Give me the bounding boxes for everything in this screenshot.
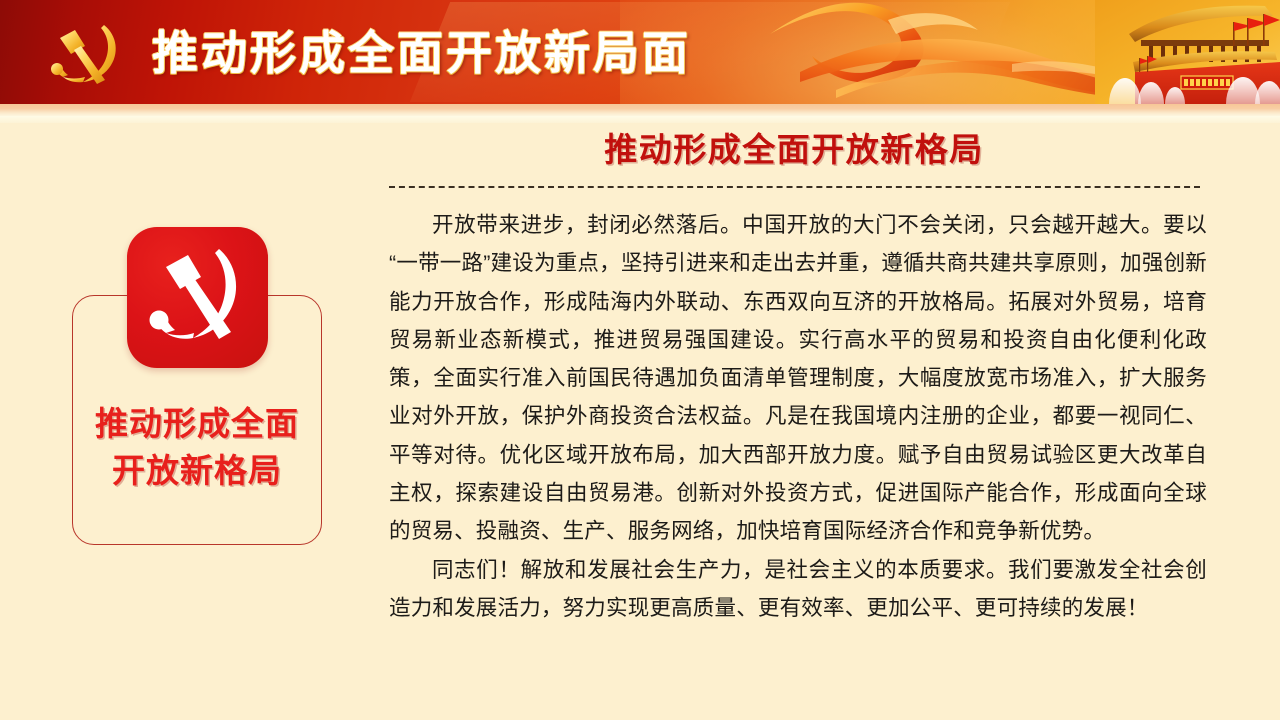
header-bottom-stripe bbox=[0, 104, 1280, 116]
page-title: 推动形成全面开放新格局 bbox=[388, 127, 1200, 172]
header-banner: 推动形成全面开放新局面 bbox=[0, 0, 1280, 104]
silk-ribbon-decoration-icon bbox=[760, 0, 1190, 104]
hammer-and-sickle-badge-icon bbox=[127, 227, 268, 368]
sidebar-card-label-line2: 开放新格局 bbox=[72, 447, 322, 494]
sidebar-card-label-line1: 推动形成全面 bbox=[72, 400, 322, 447]
title-divider bbox=[389, 186, 1200, 188]
tiananmen-gate-icon bbox=[1095, 0, 1280, 104]
body-text: 开放带来进步，封闭必然落后。中国开放的大门不会关闭，只会越开越大。要以“一带一路… bbox=[389, 206, 1207, 627]
header-title: 推动形成全面开放新局面 bbox=[152, 20, 691, 86]
sidebar-card-label: 推动形成全面 开放新格局 bbox=[72, 400, 322, 494]
hammer-and-sickle-icon bbox=[33, 22, 137, 88]
paragraph: 开放带来进步，封闭必然落后。中国开放的大门不会关闭，只会越开越大。要以“一带一路… bbox=[389, 206, 1207, 551]
paragraph: 同志们！解放和发展社会生产力，是社会主义的本质要求。我们要激发全社会创造力和发展… bbox=[389, 551, 1207, 628]
header-glow-decoration bbox=[620, 0, 1280, 104]
slide-root: 推动形成全面开放新局面 推动形成全面 开放新格局 推动形成全面开放新格局 bbox=[0, 0, 1280, 720]
header-bottom-stripe-inner bbox=[0, 116, 1280, 123]
